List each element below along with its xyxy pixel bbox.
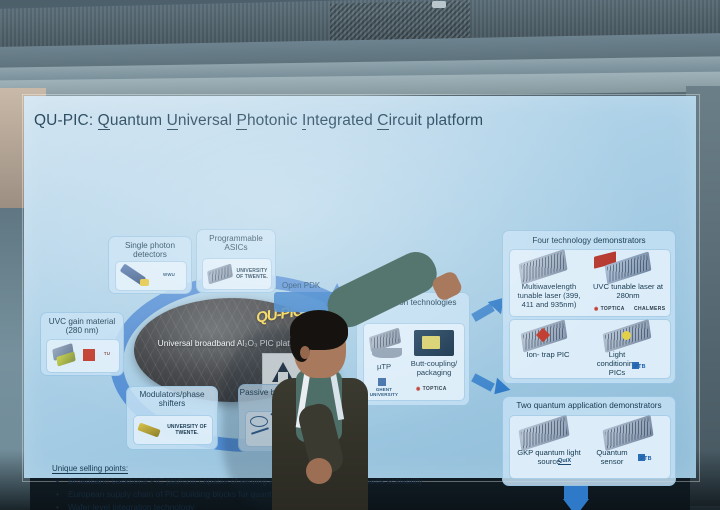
quix-logo: QuiX — [558, 458, 571, 465]
app-demo-row: GKP quantum light source QuiX Quantum se… — [509, 415, 671, 479]
detector-illustration: WWU — [115, 261, 187, 291]
toptica-logo-2: TOPTICA — [594, 306, 625, 312]
university-of-twente-logo-2: UNIVERSITY OF TWENTE. — [166, 425, 208, 437]
open-pdk-label: Open PDK — [282, 281, 320, 290]
ptb-logo-3: PTB — [634, 456, 658, 462]
block-programmable-asics[interactable]: Programmable ASICs UNIVERSITY OF TWENTE. — [196, 229, 276, 293]
presenter-ear — [300, 346, 310, 359]
panel-four-technology-demonstrators[interactable]: Four technology demonstrators Multiwavel… — [502, 230, 676, 384]
university-of-twente-logo: UNIVERSITY OF TWENTE. — [235, 269, 269, 281]
block-uvc-gain-material[interactable]: UVC gain material (280 nm) TU — [40, 312, 124, 376]
page-title: QU-PIC: Quantum Universal Photonic Integ… — [34, 112, 483, 130]
usp-heading: Unique selling points: — [52, 464, 128, 474]
presenter-mic-hand — [306, 458, 332, 484]
screenshot-root: QU-PIC: Quantum Universal Photonic Integ… — [0, 0, 720, 510]
tech-demo-row-1: Multiwavelength tunable laser (399, 411 … — [509, 249, 671, 317]
wwu-logo: WWU — [154, 272, 184, 277]
tech-demo-row-2: Ion- trap PIC Light conditioning PICs PT… — [509, 319, 671, 379]
modulator-illustration: UNIVERSITY OF TWENTE. — [133, 415, 213, 445]
tu-logo: TU — [97, 351, 117, 356]
ion-trap-pic-label: Ion- trap PIC — [512, 350, 584, 359]
block-modulators-phase-shifters[interactable]: Modulators/phase shifters UNIVERSITY OF … — [126, 386, 218, 450]
uvc-illustration: TU — [46, 339, 120, 373]
presenter — [238, 300, 448, 510]
quantum-sensor-label: Quantum sensor — [590, 448, 634, 466]
ptb-logo-2: PTB — [628, 364, 652, 370]
asic-illustration: UNIVERSITY OF TWENTE. — [202, 258, 272, 290]
chalmers-logo: CHALMERS — [634, 306, 666, 312]
block-single-photon-detectors[interactable]: Single photon detectors WWU — [108, 236, 192, 294]
ceiling-sensor — [432, 1, 446, 8]
uvc-tunable-laser-label: UVC tunable laser at 280nm — [590, 282, 666, 300]
gkp-light-source-label: GKP quantum light source — [512, 448, 586, 466]
panel-two-application-demonstrators[interactable]: Two quantum application demonstrators GK… — [502, 396, 676, 486]
ceiling-vent — [330, 0, 470, 43]
multiwavelength-laser-label: Multiwavelength tunable laser (399, 411 … — [512, 282, 586, 309]
